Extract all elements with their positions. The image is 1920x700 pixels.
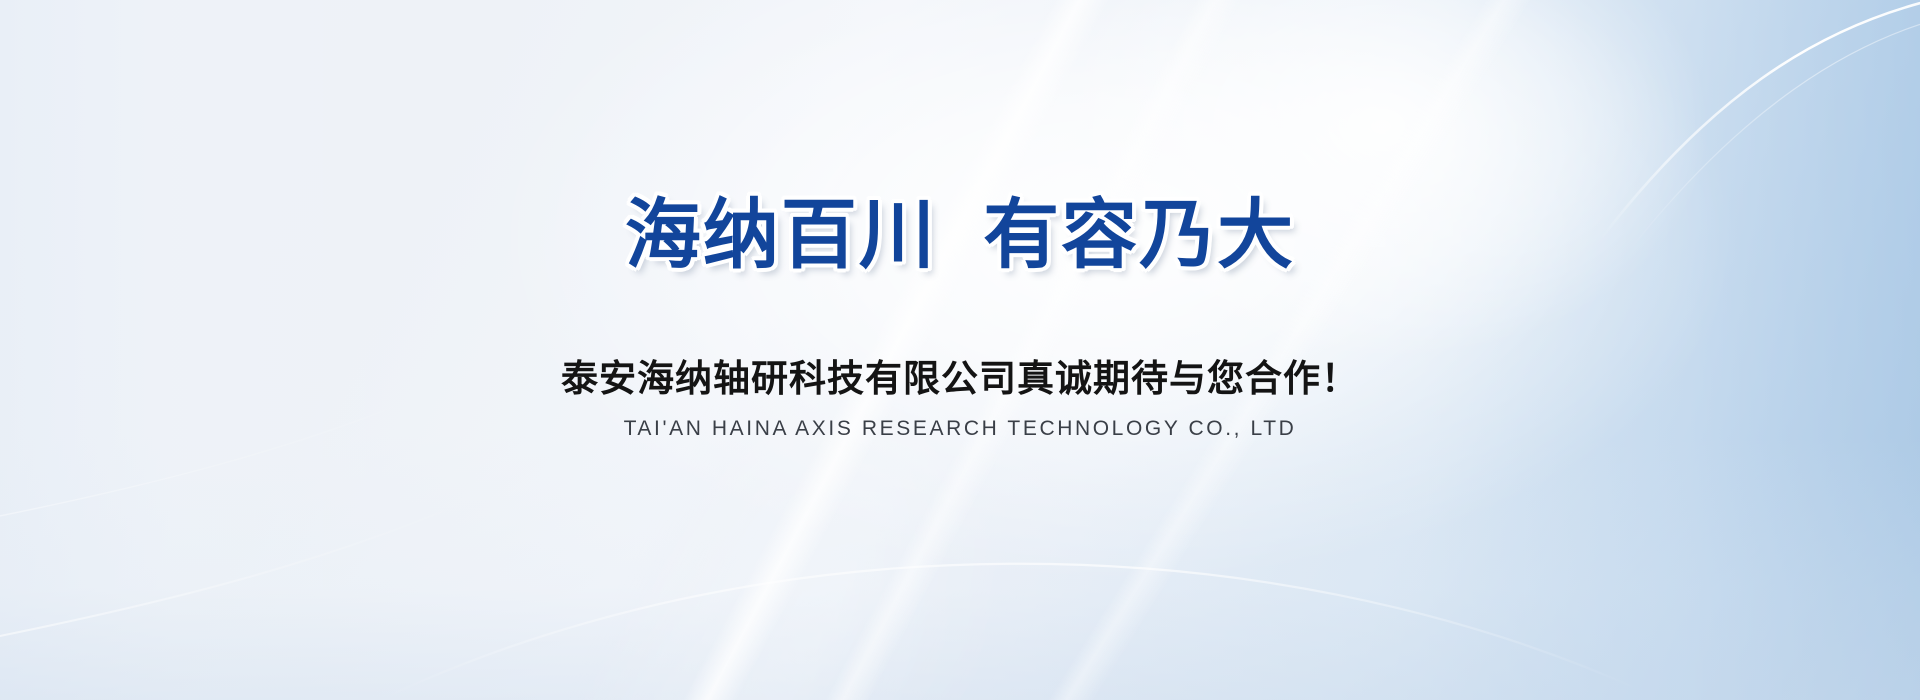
- banner-subtitle-english: TAI'AN HAINA AXIS RESEARCH TECHNOLOGY CO…: [624, 418, 1297, 439]
- banner-subtitle-chinese: 泰安海纳轴研科技有限公司真诚期待与您合作！: [561, 360, 1359, 397]
- hero-banner: 海纳百川 有容乃大 泰安海纳轴研科技有限公司真诚期待与您合作！ TAI'AN H…: [0, 0, 1920, 700]
- banner-content: 海纳百川 有容乃大 泰安海纳轴研科技有限公司真诚期待与您合作！ TAI'AN H…: [0, 0, 1920, 700]
- banner-headline: 海纳百川 有容乃大: [625, 198, 1295, 274]
